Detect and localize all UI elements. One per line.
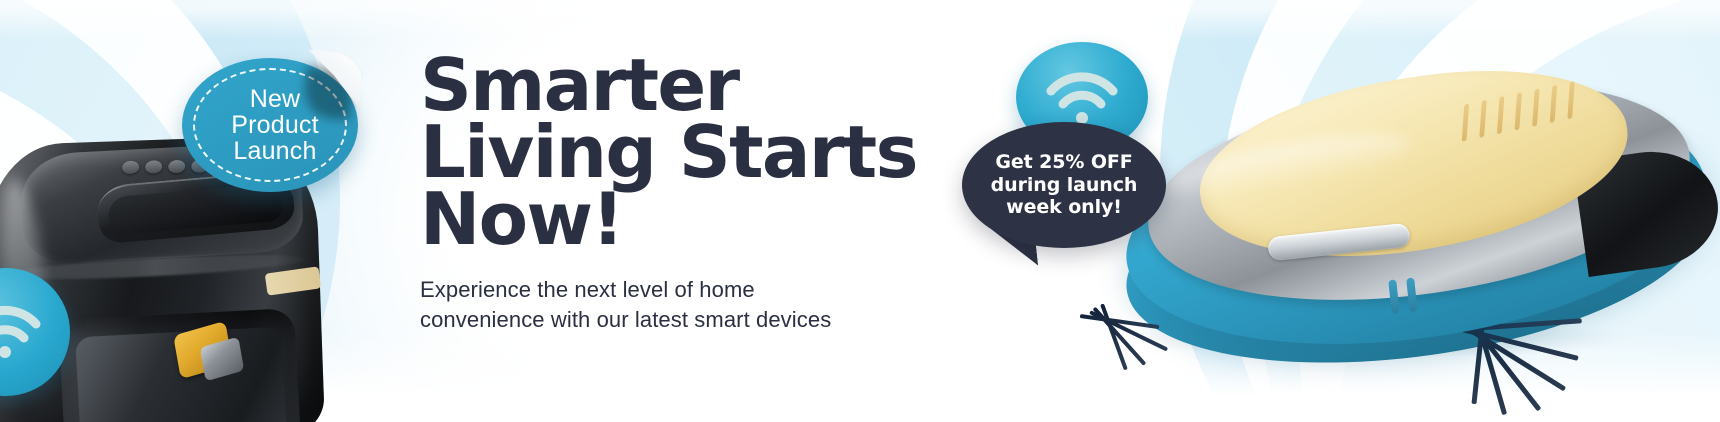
sticker-line-2: Product (231, 112, 319, 138)
banner-copy: Smarter Living Starts Now! Experience th… (420, 52, 950, 335)
sticker-line-1: New (250, 86, 301, 112)
new-product-launch-sticker[interactable]: New Product Launch (182, 58, 358, 192)
promo-line-3: week only! (1006, 196, 1122, 218)
promo-banner: New Product Launch Smarter Living Starts… (0, 0, 1720, 422)
wifi-glyph (0, 302, 42, 360)
page-title: Smarter Living Starts Now! (420, 52, 950, 253)
headline-line-2: Living Starts (420, 119, 950, 186)
robot-vacuum-brush (1100, 303, 1128, 370)
banner-subtitle: Experience the next level of home conven… (420, 275, 950, 335)
promo-line-1: Get 25% OFF (995, 151, 1132, 173)
promo-text: Get 25% OFF during launch week only! (962, 122, 1166, 248)
subtitle-line-2: convenience with our latest smart device… (420, 305, 950, 335)
background-fade-top (0, 0, 1720, 40)
wifi-glyph (1046, 70, 1118, 126)
headline-line-3: Now! (420, 186, 950, 253)
subtitle-line-1: Experience the next level of home (420, 275, 950, 305)
promo-speech-bubble[interactable]: Get 25% OFF during launch week only! (962, 122, 1166, 248)
promo-line-2: during launch (991, 174, 1138, 196)
sticker-text: New Product Launch (182, 58, 358, 192)
robot-vacuum-product-image (1072, 48, 1720, 378)
robot-vacuum-bumper-lines (1388, 276, 1432, 316)
headline-line-1: Smarter (420, 52, 950, 119)
sticker-line-3: Launch (233, 138, 316, 164)
